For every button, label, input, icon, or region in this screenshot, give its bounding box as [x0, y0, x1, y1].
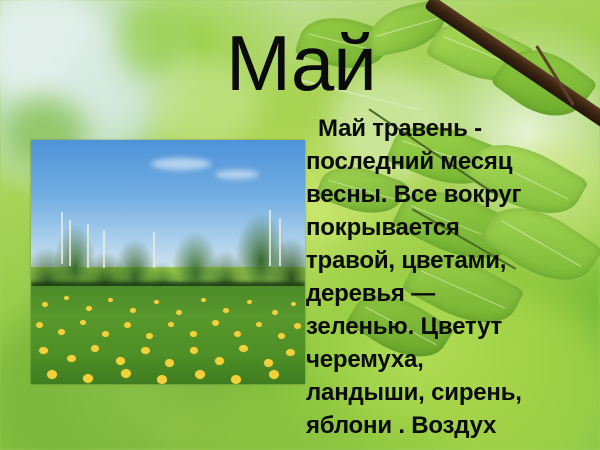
- body-text: Май травень - последний месяц весны. Все…: [306, 112, 596, 450]
- body-line: зеленью. Цветут: [306, 310, 596, 343]
- body-line: травой, цветами,: [306, 244, 596, 277]
- photo-cloud: [151, 158, 211, 170]
- birch-trunk: [61, 212, 63, 264]
- body-line: черемуха,: [306, 343, 596, 376]
- meadow-photo: [31, 140, 305, 384]
- body-line: Май травень -: [306, 112, 596, 145]
- birch-trunk: [103, 230, 105, 268]
- birch-trunk: [269, 210, 271, 266]
- birch-trunk: [153, 232, 155, 268]
- body-line: ландыши, сирень,: [306, 376, 596, 409]
- body-line: весны. Все вокруг: [306, 178, 596, 211]
- photo-cloud: [215, 170, 259, 179]
- birch-trunk: [69, 220, 71, 266]
- body-line: яблони . Воздух: [306, 409, 596, 442]
- birch-trunk: [279, 218, 281, 266]
- slide-canvas: Май Май травень - последний месяц весны.…: [0, 0, 600, 450]
- body-line: последний месяц: [306, 145, 596, 178]
- birch-trunk: [87, 224, 89, 268]
- photo-dandelions: [31, 286, 305, 384]
- body-line: покрывается: [306, 211, 596, 244]
- body-line: оглашают: [306, 442, 596, 450]
- body-line: деревья —: [306, 277, 596, 310]
- page-title: Май: [226, 22, 376, 104]
